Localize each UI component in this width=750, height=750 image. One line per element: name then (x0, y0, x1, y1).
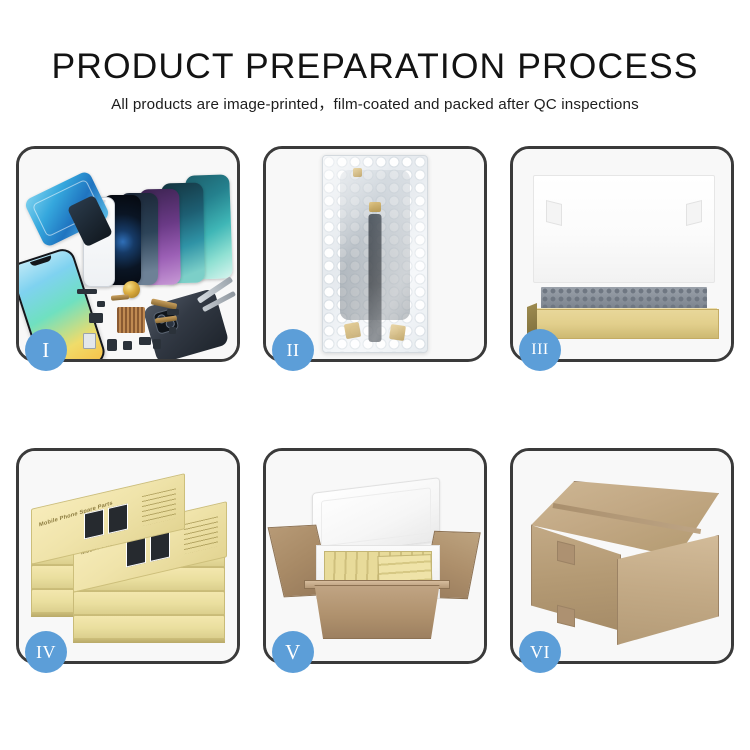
page-subtitle: All products are image-printed，film-coat… (0, 88, 750, 115)
step-badge-2: II (272, 329, 314, 371)
spec-text-lines (184, 516, 218, 554)
flex-cable-icon (111, 294, 129, 301)
step-4-image: Mobile Phone Spare Parts Mobile Phone Sp… (19, 451, 237, 661)
box-layer (73, 615, 225, 643)
lid-flap-icon (686, 200, 702, 226)
kraft-box-front-icon (531, 309, 719, 339)
connector-icon (389, 324, 406, 341)
connector-icon (369, 202, 381, 212)
process-step-grid: I II (16, 146, 734, 664)
spare-part-icon (167, 309, 179, 315)
spare-part-icon (77, 289, 97, 294)
carton-front-icon (306, 585, 448, 639)
spare-part-icon (123, 341, 132, 350)
box-lid-icon (533, 175, 715, 283)
product-preparation-infographic: PRODUCT PREPARATION PROCESS All products… (0, 0, 750, 750)
tape-patch-icon (557, 605, 575, 627)
tape-patch-icon (557, 541, 575, 565)
box-stack-icon: Mobile Phone Spare Parts Mobile Phone Sp… (27, 469, 233, 655)
screen-print-icon (108, 503, 128, 534)
spare-part-icon (139, 337, 151, 345)
spare-part-icon (83, 333, 96, 349)
step-badge-1: I (25, 329, 67, 371)
step-badge-5: V (272, 631, 314, 673)
step-5-image (266, 451, 484, 661)
spec-text-lines (142, 488, 176, 526)
spare-part-icon (153, 339, 161, 349)
step-badge-4: IV (25, 631, 67, 673)
carton-right-face-icon (617, 535, 719, 645)
step-6-image (513, 451, 731, 661)
process-step-2[interactable]: II (263, 146, 487, 362)
screen-print-icon (84, 509, 104, 540)
process-step-5[interactable]: V (263, 448, 487, 664)
ic-chip-icon (117, 307, 145, 333)
step-1-image (19, 149, 237, 359)
process-step-1[interactable]: I (16, 146, 240, 362)
step-3-image (513, 149, 731, 359)
page-title: PRODUCT PREPARATION PROCESS (0, 0, 750, 88)
connector-icon (344, 322, 361, 339)
flex-cable-icon (369, 214, 382, 342)
process-step-6[interactable]: VI (510, 448, 734, 664)
step-badge-6: VI (519, 631, 561, 673)
bubble-wrap-icon (322, 155, 428, 353)
spare-part-icon (107, 339, 117, 351)
lid-flap-icon (546, 200, 562, 226)
header: PRODUCT PREPARATION PROCESS All products… (0, 0, 750, 115)
process-step-4[interactable]: Mobile Phone Spare Parts Mobile Phone Sp… (16, 448, 240, 664)
step-2-image (266, 149, 484, 359)
spare-part-icon (169, 327, 176, 334)
spare-part-icon (97, 301, 105, 307)
spare-part-icon (89, 313, 103, 323)
process-step-3[interactable]: III (510, 146, 734, 362)
step-badge-3: III (519, 329, 561, 371)
connector-icon (353, 168, 362, 177)
